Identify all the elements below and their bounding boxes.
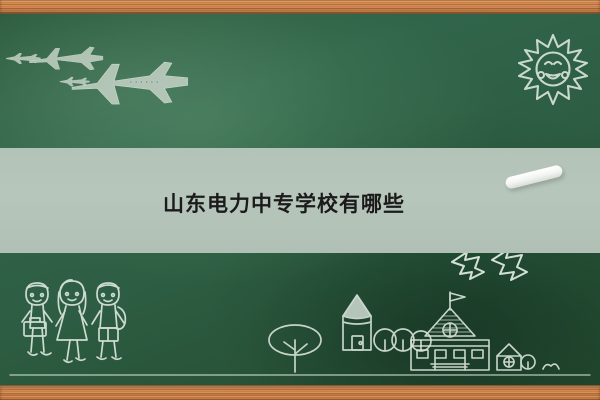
wooden-frame-top (0, 0, 600, 14)
title-band: 山东电力中专学校有哪些 (0, 148, 600, 253)
page-title: 山东电力中专学校有哪些 (163, 194, 405, 215)
chalkboard-banner: 山东电力中专学校有哪些 (0, 0, 600, 400)
wooden-frame-bottom (0, 385, 600, 400)
